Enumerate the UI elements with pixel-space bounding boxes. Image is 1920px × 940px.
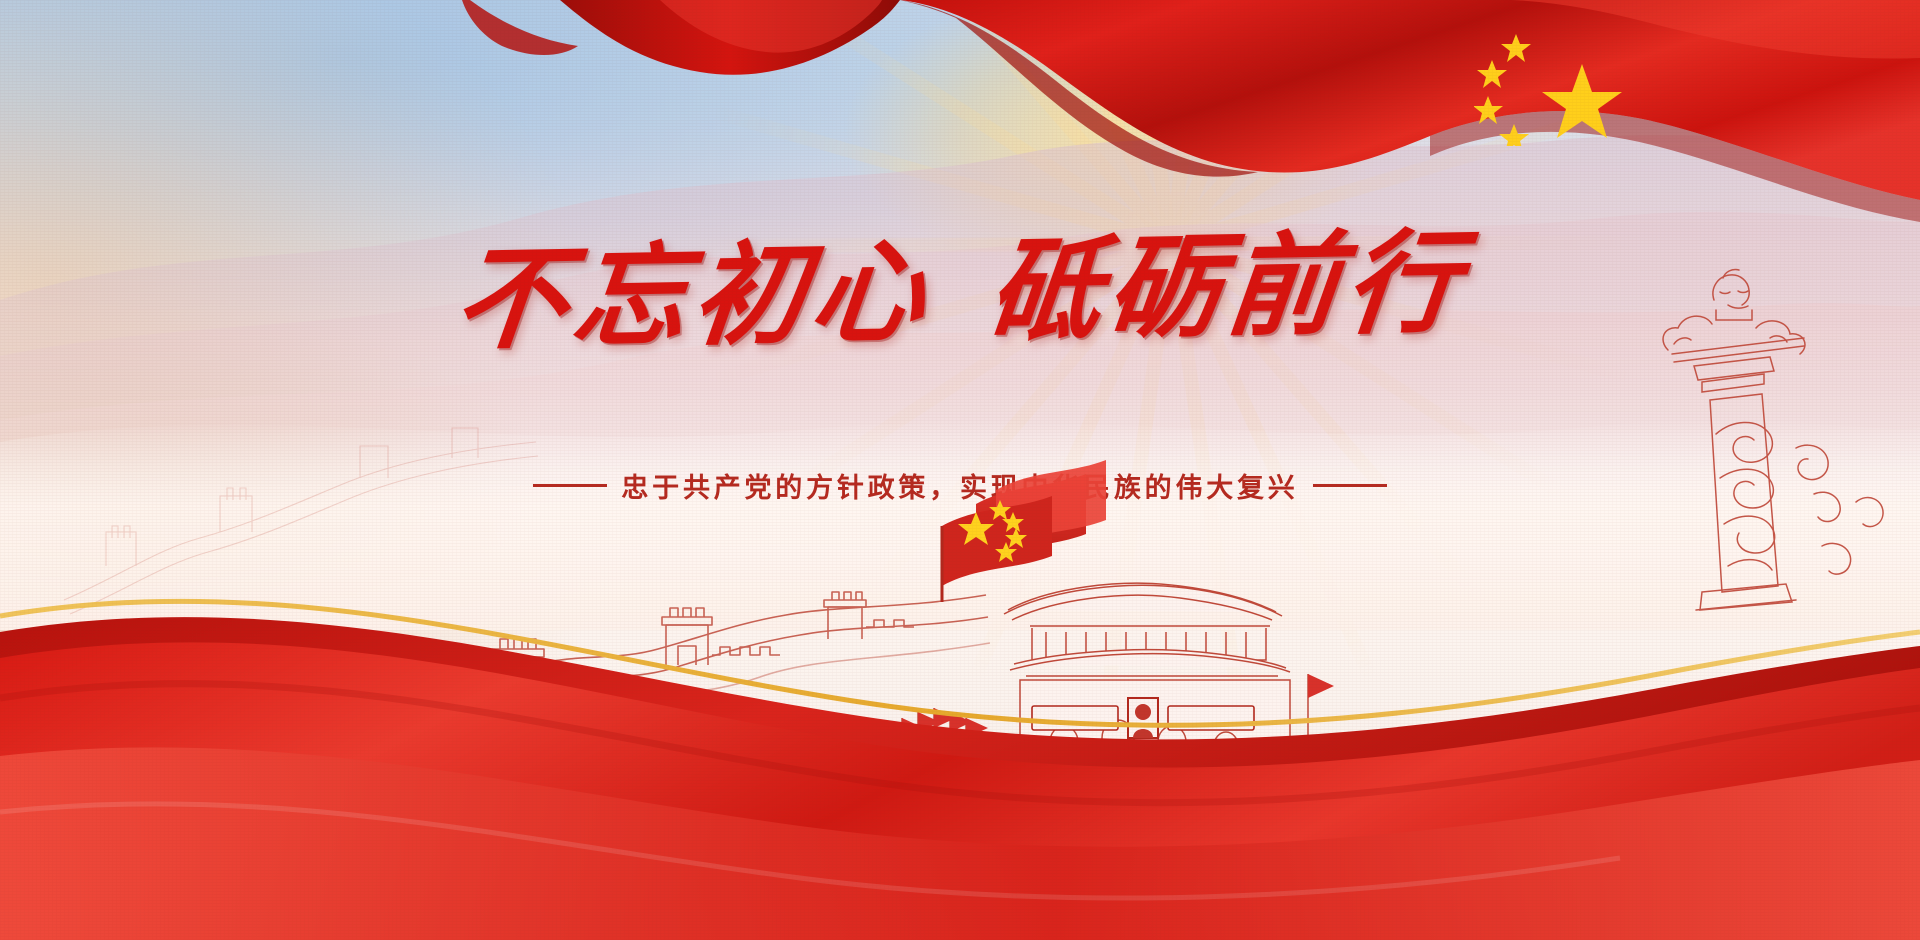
flag-stars-group: [1474, 26, 1644, 146]
flag-small-star-3: [1474, 96, 1503, 124]
subtitle-rule-left: [533, 484, 607, 487]
poster-canvas: 不忘初心砥砺前行 忠于共产党的方针政策，实现中华民族的伟大复兴: [0, 0, 1920, 940]
flag-small-star-2: [1477, 60, 1507, 88]
flag-small-star-1: [1501, 34, 1531, 62]
bottom-red-ribbons: [0, 520, 1920, 940]
flag-small-star-4: [1499, 124, 1529, 146]
flag-big-star: [1542, 64, 1622, 138]
